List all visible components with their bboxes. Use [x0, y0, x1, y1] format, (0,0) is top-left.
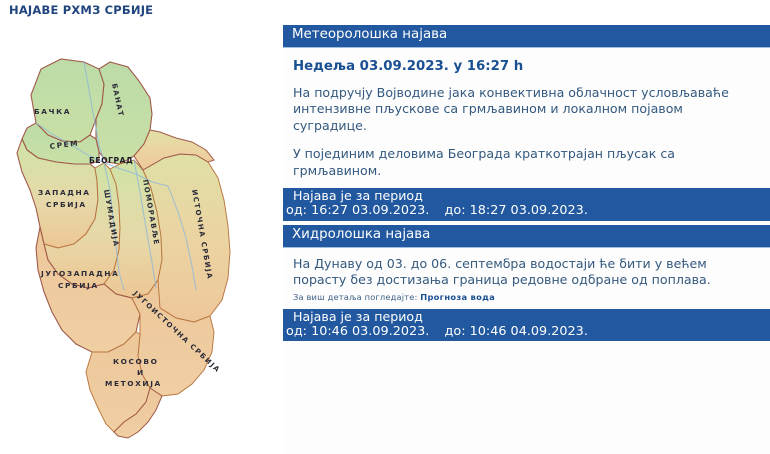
map-label-beograd: БЕОГРАД [89, 156, 133, 165]
map-label-backa: БАЧКА [34, 107, 71, 116]
meteo-paragraph-2: У појединим деловима Београда краткотрај… [293, 146, 758, 179]
map-label-jugozapadna-srbija-2: СРБИЈА [58, 281, 99, 290]
serbia-map-svg: БАЧКА БАНАТ СРЕМ БЕОГРАД ЗАПАДНА СРБИЈА … [0, 22, 280, 454]
hydro-period-range: од: 10:46 03.09.2023. до: 10:46 04.09.20… [285, 325, 770, 340]
hydro-period-from-label: од: [286, 324, 307, 339]
hydro-note: За виш детаља погледајте: Прогноза вода [283, 291, 770, 302]
page-title: НАЈАВЕ РХМЗ СРБИЈЕ [9, 3, 153, 17]
hydro-body: На Дунаву од 03. до 06. септембра водост… [283, 248, 770, 291]
meteo-period-title: Најава је за период [285, 189, 770, 204]
map-label-kosovo-i: И [137, 368, 145, 377]
hydro-paragraph-1: На Дунаву од 03. до 06. септембра водост… [293, 256, 758, 289]
hydro-period-from-value: 10:46 03.09.2023. [311, 324, 429, 339]
map-label-metohija: МЕТОХИЈА [105, 379, 162, 388]
map-label-kosovo: КОСОВО [113, 357, 159, 366]
meteo-spacer [283, 181, 770, 188]
announcements-content: Метеоролошка најава Недеља 03.09.2023. у… [283, 25, 770, 454]
hydro-note-prefix: За виш детаља погледајте: [293, 292, 417, 302]
meteo-section-heading: Метеоролошка најава [283, 25, 770, 48]
meteo-period-from-value: 16:27 03.09.2023. [311, 203, 429, 218]
meteo-period-to-value: 18:27 03.09.2023. [470, 203, 588, 218]
meteo-body: На подручју Војводине јака конвективна о… [283, 77, 770, 182]
hydro-period-title: Најава је за период [285, 310, 770, 325]
meteo-period-to-label: до: [445, 203, 466, 218]
hydro-period-bar: Најава је за период од: 10:46 03.09.2023… [283, 309, 770, 341]
serbia-map-panel: БАЧКА БАНАТ СРЕМ БЕОГРАД ЗАПАДНА СРБИЈА … [0, 22, 280, 454]
hydro-spacer [283, 302, 770, 309]
hydro-period-to-label: до: [445, 324, 466, 339]
hydro-period-to-value: 10:46 04.09.2023. [470, 324, 588, 339]
map-label-jugozapadna-srbija: ЈУГОЗАПАДНА [40, 269, 119, 278]
meteo-period-range: од: 16:27 03.09.2023. до: 18:27 03.09.20… [285, 204, 770, 219]
map-label-zapadna-srbija: ЗАПАДНА [38, 188, 91, 197]
announcement-page: НАЈАВЕ РХМЗ СРБИЈЕ [0, 0, 770, 454]
meteo-period-bar: Најава је за период од: 16:27 03.09.2023… [283, 188, 770, 220]
prognoza-voda-link[interactable]: Прогноза вода [420, 292, 495, 302]
hydro-section-heading: Хидролошка најава [283, 225, 770, 248]
meteo-date-line: Недеља 03.09.2023. у 16:27 h [283, 48, 770, 77]
meteo-paragraph-1: На подручју Војводине јака конвективна о… [293, 85, 758, 135]
meteo-period-from-label: од: [286, 203, 307, 218]
map-label-zapadna-srbija-2: СРБИЈА [46, 200, 87, 209]
